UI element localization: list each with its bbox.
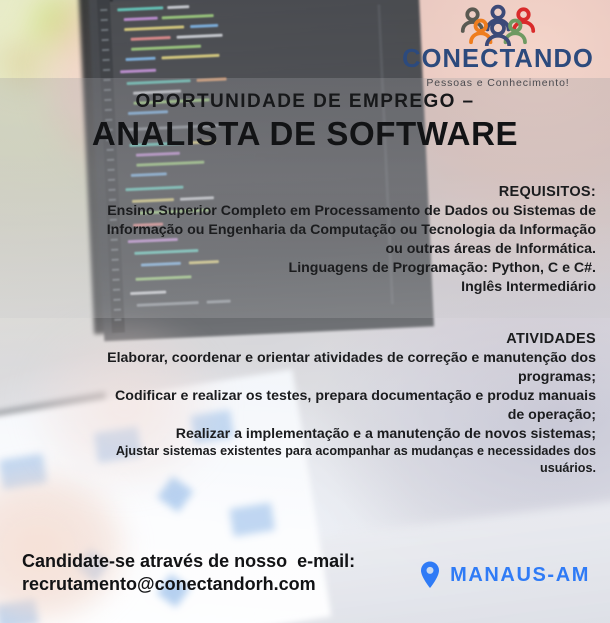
job-posting-poster: CONECTANDO Pessoas e Conhecimento! OPORT… — [0, 0, 610, 623]
people-group-icon — [453, 4, 543, 46]
activities-line: de operação; — [20, 406, 596, 425]
activities-line: Codificar e realizar os testes, prepara … — [20, 387, 596, 406]
map-pin-icon — [419, 560, 441, 590]
headline: OPORTUNIDADE DE EMPREGO – ANALISTA DE SO… — [0, 92, 610, 153]
headline-kicker: OPORTUNIDADE DE EMPREGO – — [0, 92, 610, 113]
brand-logo: CONECTANDO Pessoas e Conhecimento! — [400, 4, 596, 89]
activities-line: programas; — [20, 368, 596, 387]
activities-section: ATIVIDADES Elaborar, coordenar e orienta… — [20, 331, 596, 477]
requirements-line: Ensino Superior Completo em Processament… — [20, 202, 596, 221]
location-text: MANAUS-AM — [450, 564, 590, 587]
application-cta: Candidate-se através de nosso e-mail: re… — [22, 550, 355, 598]
requirements-line: ou outras áreas de Informática. — [20, 240, 596, 259]
requirements-line: Inglês Intermediário — [20, 278, 596, 297]
requirements-line: Linguagens de Programação: Python, C e C… — [20, 259, 596, 278]
headline-title: ANALISTA DE SOFTWARE — [0, 116, 610, 153]
activities-line: Ajustar sistemas existentes para acompan… — [20, 443, 596, 460]
location-badge: MANAUS-AM — [419, 560, 590, 590]
brand-name: CONECTANDO — [400, 47, 596, 73]
requirements-section: REQUISITOS: Ensino Superior Completo em … — [20, 184, 596, 296]
requirements-line: Informação ou Engenharia da Computação o… — [20, 221, 596, 240]
activities-line: Realizar a implementação e a manutenção … — [20, 425, 596, 444]
activities-title: ATIVIDADES — [20, 331, 596, 347]
brand-tagline: Pessoas e Conhecimento! — [400, 77, 596, 89]
activities-line: Elaborar, coordenar e orientar atividade… — [20, 349, 596, 368]
requirements-title: REQUISITOS: — [20, 184, 596, 200]
activities-line: usuários. — [20, 460, 596, 477]
